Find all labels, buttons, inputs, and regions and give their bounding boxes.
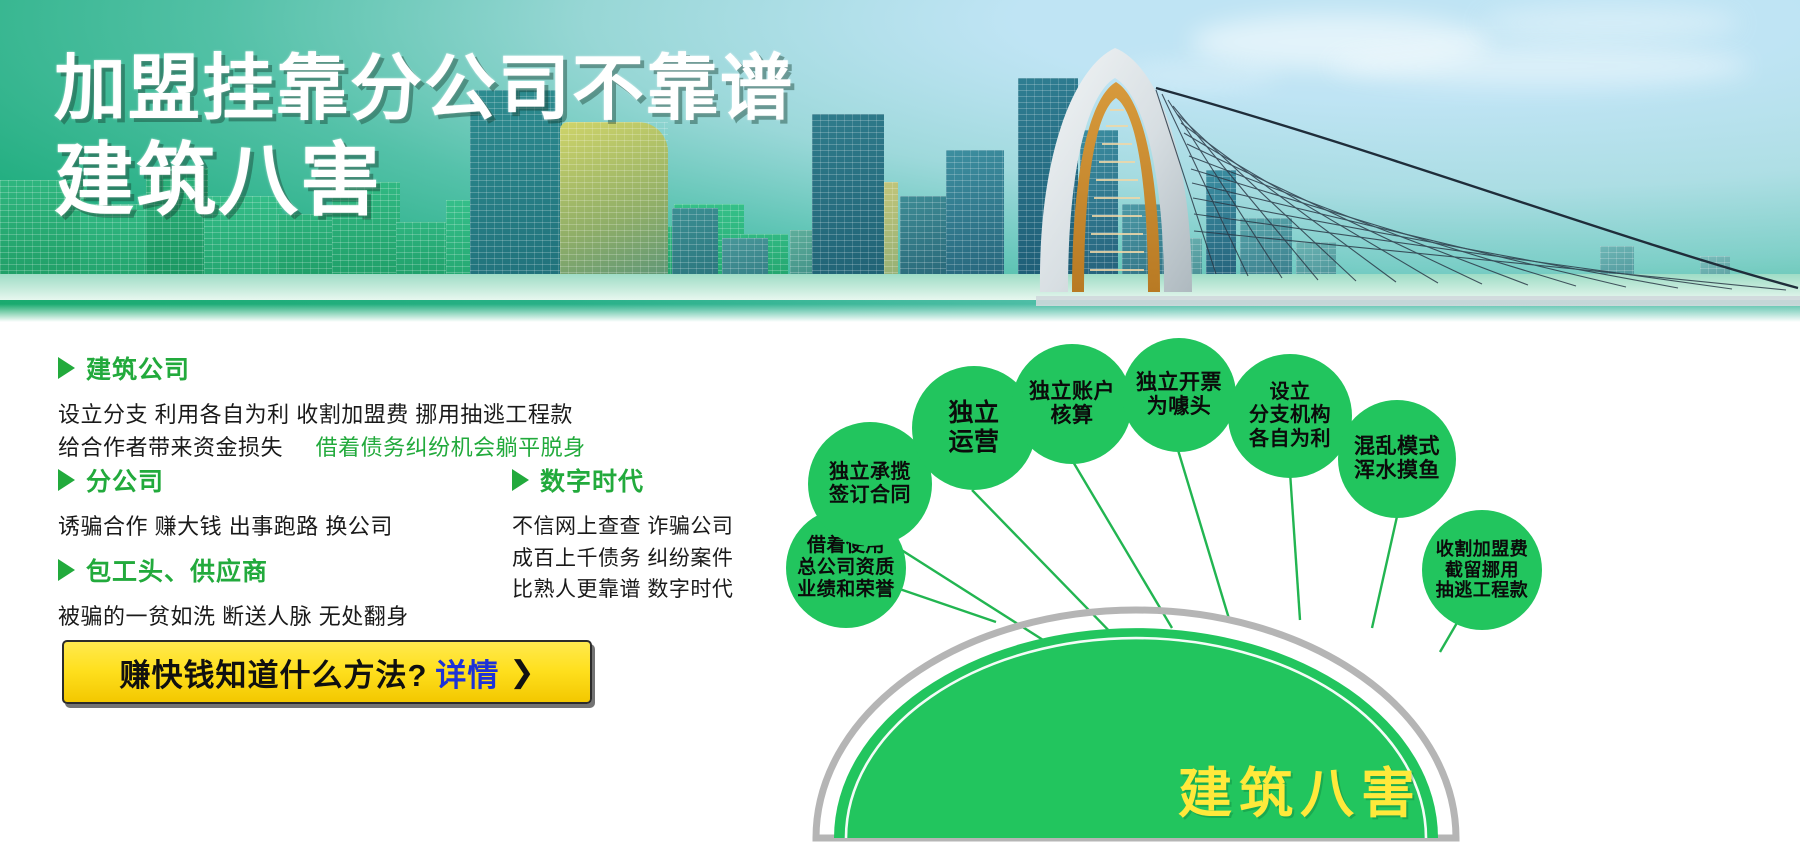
building-tower-dark	[812, 114, 884, 300]
hero-banner: 加盟挂靠分公司不靠谱 建筑八害	[0, 0, 1800, 322]
section-header: 数字时代	[512, 462, 772, 498]
section-title: 包工头、供应商	[86, 552, 268, 588]
section-body: 设立分支 利用各自为利 收割加盟费 挪用抽逃工程款 给合作者带来资金损失 借着债…	[58, 399, 658, 464]
bubble-text: 混乱模式 浑水摸鱼	[1354, 435, 1440, 484]
triangle-right-icon	[58, 559, 75, 581]
section-line: 成百上千债务 纠纷案件	[512, 543, 772, 575]
bubble-text: 独立账户 核算	[1029, 380, 1115, 429]
section-line: 比熟人更靠谱 数字时代	[512, 574, 772, 606]
section-body: 不信网上查查 诈骗公司 成百上千债务 纠纷案件 比熟人更靠谱 数字时代	[512, 511, 772, 606]
page-title-line1: 加盟挂靠分公司不靠谱	[54, 52, 794, 127]
bubble-diagram: 借着使用 总公司资质 业绩和荣誉 独立承揽 签订合同 独立 运营	[800, 322, 1800, 844]
cta-question-label: 赚快钱知道什么方法?	[119, 650, 427, 695]
section-line: 被骗的一贫如洗 断送人脉 无处翻身	[58, 601, 518, 634]
section-construction-company: 建筑公司 设立分支 利用各自为利 收割加盟费 挪用抽逃工程款 给合作者带来资金损…	[58, 350, 658, 464]
bubble-text: 独立开票 为噱头	[1136, 371, 1222, 420]
section-title: 分公司	[86, 462, 164, 498]
bubble-chaotic-mode[interactable]: 混乱模式 浑水摸鱼	[1338, 400, 1456, 518]
section-header: 建筑公司	[58, 350, 658, 386]
section-line: 诱骗合作 赚大钱 出事跑路 换公司	[58, 511, 488, 544]
bridge-svg	[980, 30, 1800, 322]
section-line: 不信网上查查 诈骗公司	[512, 511, 772, 543]
bubble-set-up-branch[interactable]: 设立 分支机构 各自为利	[1228, 354, 1352, 478]
triangle-right-icon	[58, 469, 75, 491]
diagram-panel: 借着使用 总公司资质 业绩和荣誉 独立承揽 签订合同 独立 运营	[800, 322, 1800, 844]
section-branch-company: 分公司 诱骗合作 赚大钱 出事跑路 换公司	[58, 462, 488, 544]
bubble-text: 收割加盟费 截留挪用 抽逃工程款	[1436, 539, 1529, 602]
cta-button[interactable]: 赚快钱知道什么方法? 详情 ❯	[62, 640, 592, 704]
poster-root: 加盟挂靠分公司不靠谱 建筑八害 建筑公司 设立分支 利用各自为利 收割加盟费 挪…	[0, 0, 1800, 844]
page-title-line2: 建筑八害	[54, 139, 794, 222]
section-line-row: 给合作者带来资金损失 借着债务纠纷机会躺平脱身	[58, 432, 658, 465]
bridge-cables	[1156, 90, 1786, 290]
bubble-text: 独立 运营	[948, 399, 999, 457]
section-header: 包工头、供应商	[58, 552, 518, 588]
triangle-right-icon	[512, 469, 529, 491]
section-contractor-supplier: 包工头、供应商 被骗的一贫如洗 断送人脉 无处翻身	[58, 552, 518, 634]
bubble-independent-account[interactable]: 独立账户 核算	[1012, 344, 1132, 464]
section-header: 分公司	[58, 462, 488, 498]
section-line: 给合作者带来资金损失	[58, 435, 283, 460]
cta-detail-link[interactable]: 详情	[435, 650, 499, 695]
bubble-text: 设立 分支机构 各自为利	[1249, 381, 1331, 451]
section-body: 诱骗合作 赚大钱 出事跑路 换公司	[58, 511, 488, 544]
dome-center-label: 建筑八害	[800, 749, 1800, 828]
bubble-harvest-fees[interactable]: 收割加盟费 截留挪用 抽逃工程款	[1422, 510, 1542, 630]
bridge-illustration	[980, 30, 1800, 322]
section-line-highlight: 借着债务纠纷机会躺平脱身	[316, 435, 586, 460]
bubble-text: 独立承揽 签订合同	[829, 461, 911, 507]
hero-bottom-fade	[0, 304, 1800, 322]
section-digital-era: 数字时代 不信网上查查 诈骗公司 成百上千债务 纠纷案件 比熟人更靠谱 数字时代	[512, 462, 772, 606]
section-line: 设立分支 利用各自为利 收割加盟费 挪用抽逃工程款	[58, 399, 658, 432]
section-title: 建筑公司	[86, 350, 190, 386]
triangle-right-icon	[58, 357, 75, 379]
left-content-panel: 建筑公司 设立分支 利用各自为利 收割加盟费 挪用抽逃工程款 给合作者带来资金损…	[0, 322, 800, 844]
bubble-independent-invoice[interactable]: 独立开票 为噱头	[1122, 338, 1236, 452]
section-body: 被骗的一贫如洗 断送人脉 无处翻身	[58, 601, 518, 634]
chevron-right-icon: ❯	[509, 655, 534, 690]
hero-title-group: 加盟挂靠分公司不靠谱 建筑八害	[54, 52, 794, 222]
section-title: 数字时代	[540, 462, 644, 498]
